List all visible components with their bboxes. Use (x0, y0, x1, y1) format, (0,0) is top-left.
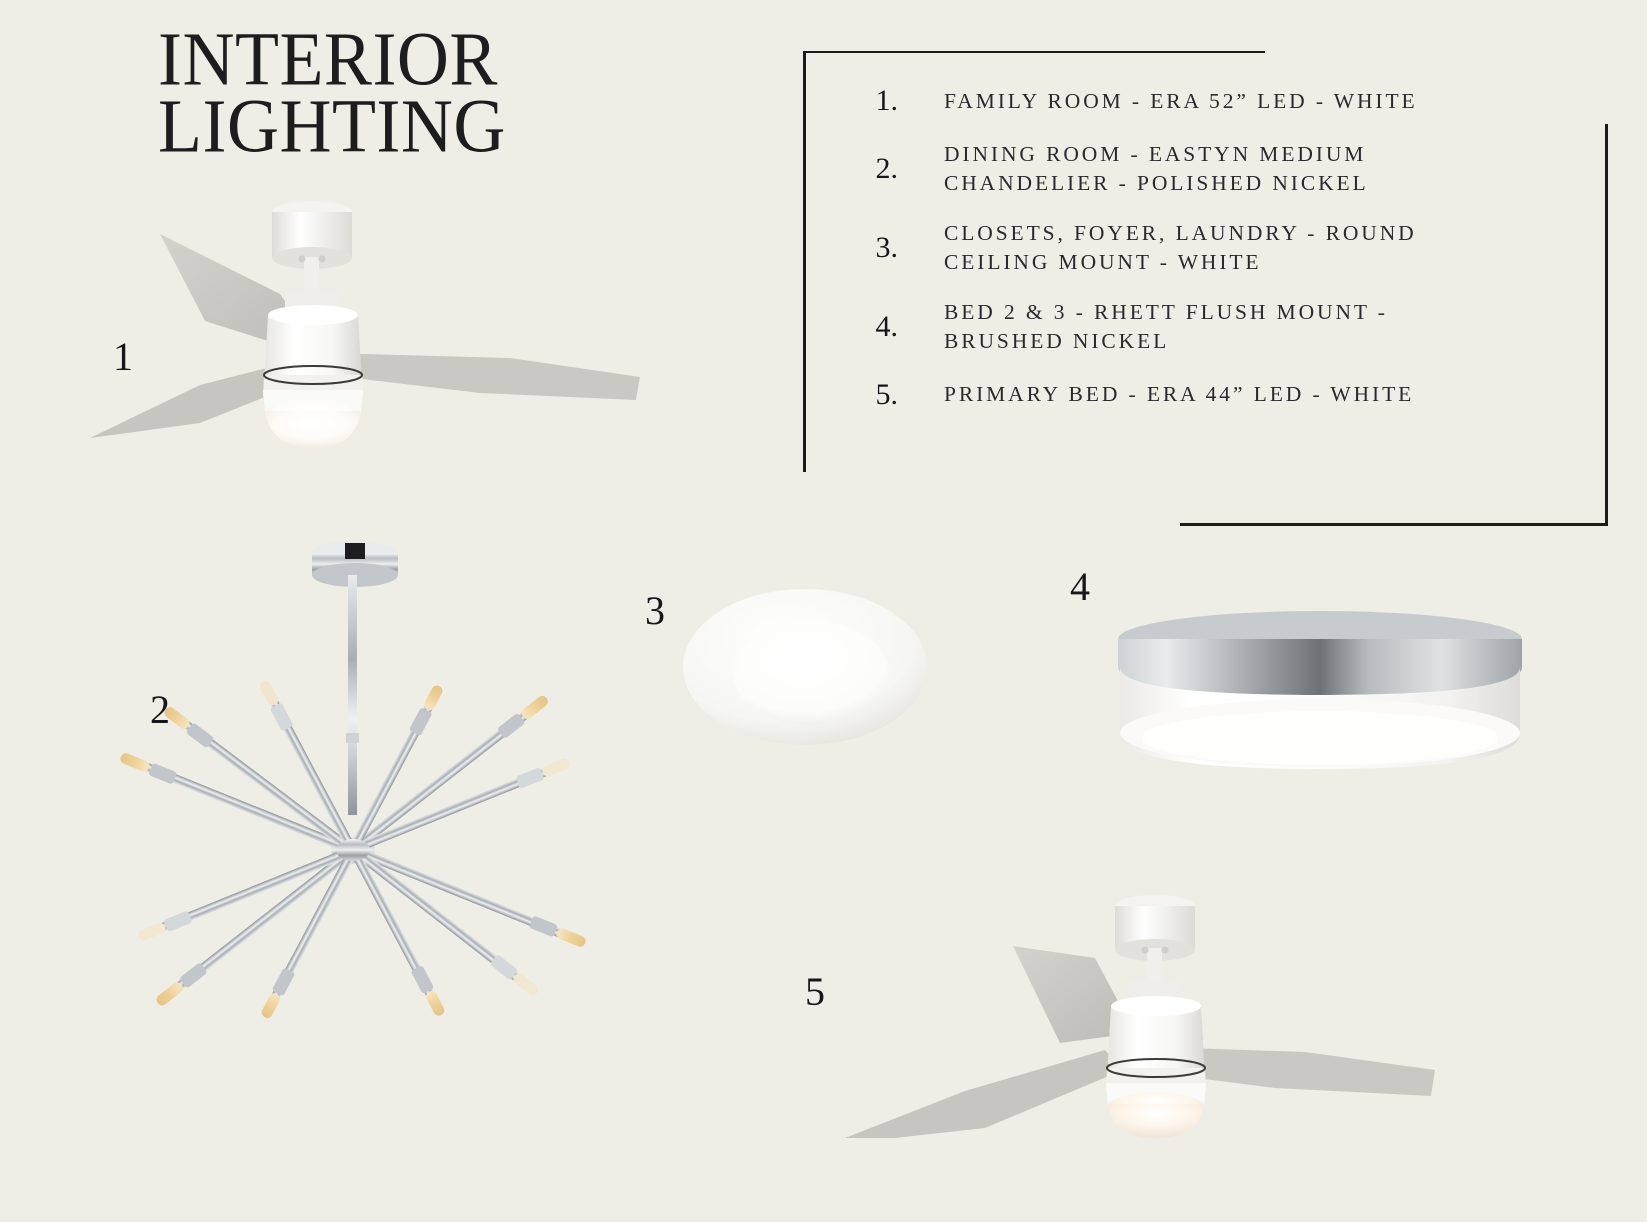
spec-number: 3. (840, 231, 902, 265)
product-image-eastyn-chandelier (45, 505, 665, 1085)
chandelier-arm (154, 845, 357, 1008)
frame-bottom-rule (1180, 523, 1608, 526)
chandelier-arm (349, 693, 551, 855)
fan-light-globe-body (1108, 1104, 1204, 1138)
fan-screw (1162, 947, 1169, 954)
spec-label: BED 2 & 3 - RHETT FLUSH MOUNT - BRUSHED … (902, 298, 1388, 355)
fan-housing-top (268, 305, 358, 325)
chandelier-arm (257, 679, 358, 854)
chandelier-arm (351, 844, 588, 950)
product-marker-5: 5 (805, 968, 825, 1015)
spec-number: 2. (840, 152, 902, 186)
product-image-rhett-flush-mount (1110, 605, 1530, 795)
chandelier-canopy-cap (345, 543, 365, 559)
flush-mount-nickel-band (1118, 639, 1522, 695)
spec-row: 1. FAMILY ROOM - ERA 52” LED - WHITE (840, 84, 1600, 118)
sputnik-chandelier-icon (45, 505, 665, 1085)
drum-flush-mount-icon (1110, 605, 1530, 795)
mood-board: INTERIOR LIGHTING 1. FAMILY ROOM - ERA 5… (0, 0, 1647, 1222)
spec-row: 2. DINING ROOM - EASTYN MEDIUM CHANDELIE… (840, 140, 1600, 197)
spec-number: 1. (840, 84, 902, 118)
frame-left-rule (803, 51, 806, 472)
fan-blade (325, 353, 640, 400)
chandelier-arm (137, 844, 356, 943)
spec-number: 4. (840, 310, 902, 344)
fan-screw (319, 256, 326, 263)
chandelier-arm (162, 704, 357, 855)
chandelier-arm (349, 844, 541, 998)
frame-right-rule (1605, 124, 1608, 526)
product-marker-2: 2 (150, 686, 170, 733)
spec-label: FAMILY ROOM - ERA 52” LED - WHITE (902, 87, 1418, 116)
ceiling-fan-52-icon (80, 185, 720, 485)
fan-screw (299, 256, 306, 263)
flush-mount-bottom-glow (1142, 711, 1498, 765)
product-image-ceiling-fan-44 (835, 838, 1475, 1138)
spec-row: 5. PRIMARY BED - ERA 44” LED - WHITE (840, 378, 1600, 412)
product-image-round-ceiling-mount (680, 585, 930, 750)
spec-label: DINING ROOM - EASTYN MEDIUM CHANDELIER -… (902, 140, 1369, 197)
product-marker-1: 1 (113, 333, 133, 380)
ceiling-fan-44-icon (835, 838, 1475, 1138)
fan-motor-housing (264, 315, 362, 383)
frame-top-rule (803, 51, 1265, 53)
page-title-line-2: LIGHTING (158, 91, 718, 162)
fan-housing-top (1111, 996, 1201, 1016)
round-ceiling-mount-icon (680, 585, 930, 750)
chandelier-stem (348, 575, 357, 815)
fan-motor-housing (1107, 1006, 1205, 1076)
spec-row: 4. BED 2 & 3 - RHETT FLUSH MOUNT - BRUSH… (840, 298, 1600, 355)
spec-label: CLOSETS, FOYER, LAUNDRY - ROUND CEILING … (902, 219, 1417, 276)
chandelier-arm (348, 847, 447, 1018)
fan-blade (845, 1050, 1123, 1138)
spec-label: PRIMARY BED - ERA 44” LED - WHITE (902, 380, 1414, 409)
lighting-spec-list: 1. FAMILY ROOM - ERA 52” LED - WHITE 2. … (840, 84, 1600, 434)
spec-row: 3. CLOSETS, FOYER, LAUNDRY - ROUND CEILI… (840, 219, 1600, 276)
chandelier-arm (350, 756, 571, 855)
product-marker-3: 3 (645, 587, 665, 634)
fan-downrod (1147, 948, 1162, 984)
mount-diffuser (733, 621, 889, 725)
spec-number: 5. (840, 378, 902, 412)
chandelier-hub-cap (336, 839, 370, 861)
fan-downrod (304, 257, 319, 293)
fan-light-globe-body (265, 411, 361, 449)
product-marker-4: 4 (1070, 563, 1090, 610)
chandelier-stem-joint (346, 733, 359, 743)
fan-screw (1142, 947, 1149, 954)
page-title: INTERIOR LIGHTING (158, 24, 718, 158)
product-image-ceiling-fan-52 (80, 185, 720, 485)
